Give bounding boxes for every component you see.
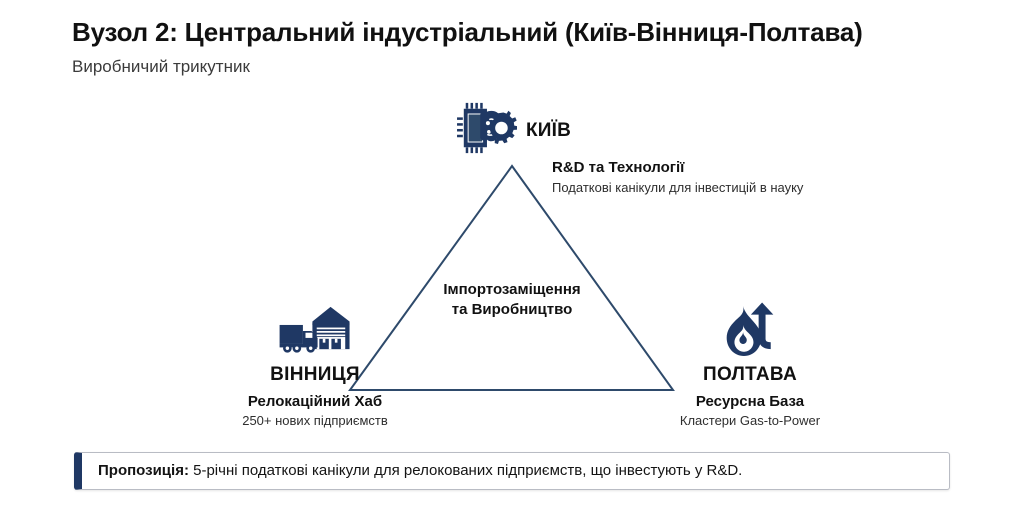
node-poltava-role: Ресурсна База (585, 392, 915, 412)
node-vinnytsia-city: ВІННИЦЯ (150, 364, 480, 386)
flame-arrow-up-icon (712, 300, 788, 362)
proposal-callout: Пропозиція: 5-річні податкові канікули д… (74, 452, 950, 490)
node-vinnytsia-role: Релокаційний Хаб (150, 392, 480, 412)
page-title: Вузол 2: Центральний індустріальний (Киї… (72, 18, 972, 48)
node-kyiv-role: R&D та Технології (552, 159, 885, 178)
proposal-body: 5-річні податкові канікули для релокован… (189, 462, 742, 479)
chip-brain-gear-icon (455, 100, 517, 156)
slide-header: Вузол 2: Центральний індустріальний (Киї… (72, 18, 972, 77)
triangle-center-label: Імпортозаміщення та Виробництво (362, 280, 662, 321)
page-subtitle: Виробничий трикутник (72, 57, 972, 77)
node-vinnytsia-detail: 250+ нових підприємств (150, 413, 480, 430)
node-kyiv-detail: Податкові канікули для інвестицій в наук… (552, 180, 885, 197)
node-kyiv-city: КИЇВ (526, 117, 571, 140)
truck-warehouse-icon (277, 300, 353, 362)
node-poltava-city: ПОЛТАВА (585, 364, 915, 386)
node-kyiv[interactable]: КИЇВ R&D та Технології Податкові канікул… (455, 100, 885, 197)
proposal-text: Пропозиція: 5-річні податкові канікули д… (98, 462, 742, 480)
center-label-line-1: Імпортозаміщення (362, 280, 662, 300)
center-label-line-2: та Виробництво (362, 300, 662, 320)
node-poltava-detail: Кластери Gas-to-Power (585, 413, 915, 430)
production-triangle-diagram: КИЇВ R&D та Технології Податкові канікул… (0, 95, 1024, 445)
proposal-label: Пропозиція: (98, 462, 189, 479)
